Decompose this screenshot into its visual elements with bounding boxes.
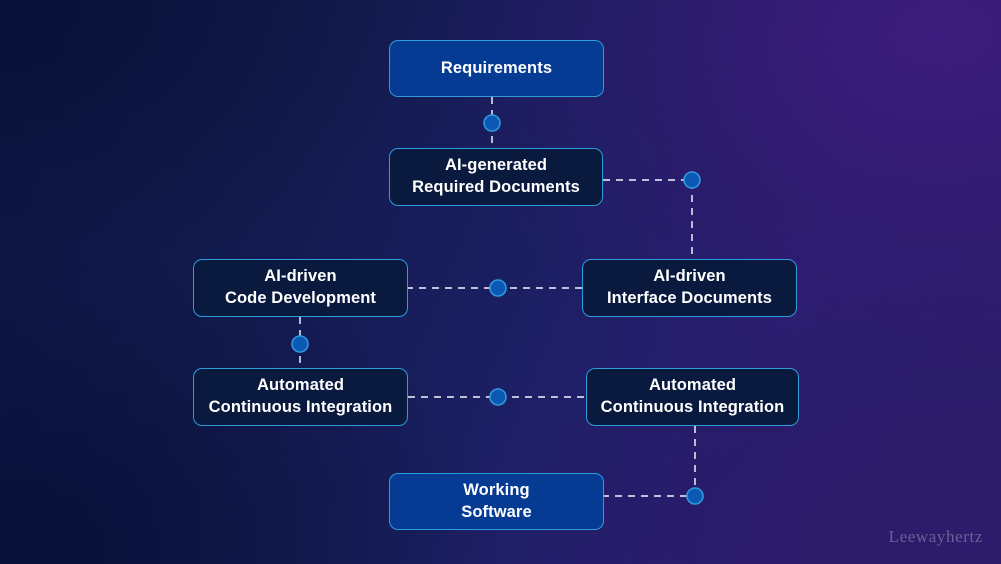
node-ai-driven-code-development[interactable]: AI-driven Code Development [193,259,408,317]
node-label-working-software: Working Software [461,480,531,524]
node-automated-continuous-integration-right[interactable]: Automated Continuous Integration [586,368,799,426]
node-automated-continuous-integration-left[interactable]: Automated Continuous Integration [193,368,408,426]
node-label-ai-driven-code-development: AI-driven Code Development [225,266,376,310]
connector-line-automated-continuous-integration-right-to-working-software [604,426,695,496]
watermark-leewayhertz: Leewayhertz [889,527,983,547]
diagram-canvas: RequirementsAI-generated Required Docume… [0,0,1001,564]
node-label-requirements: Requirements [441,58,552,80]
node-label-ai-generated-required-documents: AI-generated Required Documents [412,155,580,199]
node-label-automated-continuous-integration-left: Automated Continuous Integration [209,375,393,419]
node-working-software[interactable]: Working Software [389,473,604,530]
connector-dot-automated-continuous-integration-left-to-right [490,389,506,405]
node-ai-generated-required-documents[interactable]: AI-generated Required Documents [389,148,603,206]
connector-dot-automated-continuous-integration-right-to-working-software [687,488,703,504]
connector-dot-ai-driven-interface-documents-to-ai-driven-code-development [490,280,506,296]
node-ai-driven-interface-documents[interactable]: AI-driven Interface Documents [582,259,797,317]
node-requirements[interactable]: Requirements [389,40,604,97]
node-label-ai-driven-interface-documents: AI-driven Interface Documents [607,266,772,310]
connector-dot-ai-generated-required-documents-to-ai-driven-interface-documents [684,172,700,188]
node-label-automated-continuous-integration-right: Automated Continuous Integration [601,375,785,419]
connector-line-ai-generated-required-documents-to-ai-driven-interface-documents [603,180,692,259]
connector-dot-ai-driven-code-development-to-automated-continuous-integration-left [292,336,308,352]
connector-dot-requirements-to-ai-generated-required-documents [484,115,500,131]
